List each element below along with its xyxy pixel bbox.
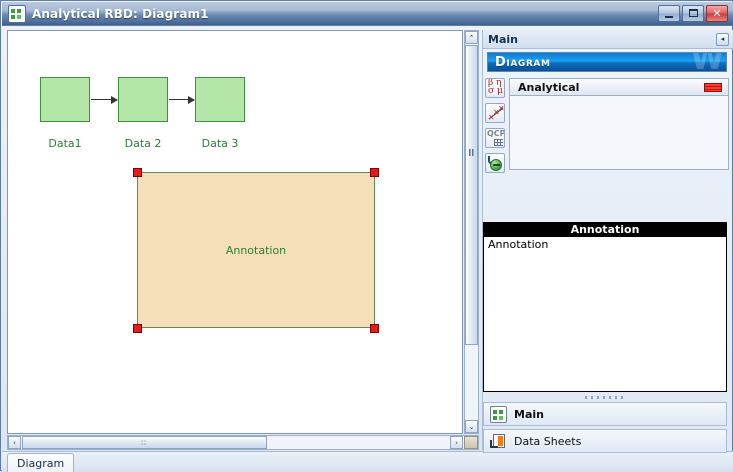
- scroll-down-button[interactable]: ⌄: [465, 420, 478, 433]
- annotation-shape[interactable]: Annotation: [137, 172, 375, 328]
- analytical-title: Analytical: [518, 81, 579, 94]
- diagram-canvas[interactable]: Data1 Data 2 Data 3 Annotation: [7, 30, 463, 434]
- annotation-list[interactable]: Annotation: [483, 237, 727, 392]
- close-icon: ✕: [707, 6, 727, 21]
- window-controls: ✕: [658, 5, 728, 22]
- qcp-icon[interactable]: QCP: [485, 128, 505, 148]
- scroll-right-button[interactable]: ›: [450, 436, 463, 449]
- analytical-panel-header: Analytical: [510, 79, 728, 96]
- chevron-up-icon: ⌃: [469, 34, 475, 42]
- window-title: Analytical RBD: Diagram1: [32, 7, 209, 21]
- watermark-letter: W: [691, 52, 724, 72]
- list-item[interactable]: Annotation: [484, 237, 726, 252]
- diagram-banner-title: Diagram: [495, 55, 551, 70]
- nav-button-main[interactable]: Main: [483, 402, 727, 426]
- analysis-run-icon[interactable]: [485, 153, 505, 173]
- tool-icon-column: β η σ μ ✕✕✕ QCP: [485, 78, 507, 178]
- title-bar: Analytical RBD: Diagram1 ✕: [2, 2, 733, 26]
- annotation-label: Annotation: [226, 244, 286, 257]
- rbd-block-3[interactable]: [195, 77, 245, 122]
- scroll-left-button[interactable]: ‹: [8, 436, 21, 449]
- resize-handle-top-right[interactable]: [370, 168, 379, 177]
- nav-button-data-sheets[interactable]: Data Sheets: [483, 429, 727, 453]
- tab-diagram-label: Diagram: [17, 457, 64, 470]
- data-sheets-icon: [490, 433, 507, 450]
- tab-diagram[interactable]: Diagram: [7, 453, 74, 472]
- chevron-left-icon: ◂: [721, 35, 725, 43]
- analytical-panel: Analytical: [509, 78, 729, 170]
- chevron-left-icon: ‹: [13, 439, 16, 447]
- close-button[interactable]: ✕: [706, 5, 728, 22]
- collapse-panel-button[interactable]: ◂: [716, 33, 729, 46]
- canvas-horizontal-scrollbar[interactable]: ‹ ›: [7, 435, 479, 450]
- resize-handle-bottom-left[interactable]: [133, 324, 142, 333]
- right-panel-header: Main ◂: [483, 30, 733, 49]
- line-style-swatch[interactable]: [704, 83, 722, 92]
- scroll-up-button[interactable]: ⌃: [465, 31, 478, 44]
- canvas-vertical-scrollbar[interactable]: ⌃ ⌄: [464, 30, 479, 434]
- thumb-grip: [141, 440, 147, 447]
- annotation-section-header: Annotation: [483, 222, 727, 237]
- distribution-parameters-icon[interactable]: β η σ μ: [485, 78, 505, 98]
- chevron-right-icon: ›: [455, 439, 458, 447]
- rbd-block-2[interactable]: [118, 77, 168, 122]
- scrollbar-corner: [464, 436, 478, 449]
- right-panel: Main ◂ W Diagram β η σ μ ✕✕✕ QCP: [482, 30, 732, 450]
- rbd-block-3-label: Data 3: [185, 137, 255, 150]
- panel-resize-grip[interactable]: [483, 394, 727, 401]
- connector-2-3[interactable]: [169, 99, 194, 100]
- nav-button-data-sheets-label: Data Sheets: [514, 435, 581, 448]
- maximize-button[interactable]: [682, 5, 704, 22]
- nav-button-main-label: Main: [514, 408, 544, 421]
- resize-handle-top-left[interactable]: [133, 168, 142, 177]
- vertical-scroll-thumb[interactable]: [465, 45, 478, 345]
- resize-handle-bottom-right[interactable]: [370, 324, 379, 333]
- connector-1-2[interactable]: [91, 99, 117, 100]
- plot-points-icon[interactable]: ✕✕✕: [485, 103, 505, 123]
- minimize-button[interactable]: [658, 5, 680, 22]
- chevron-down-icon: ⌄: [469, 423, 475, 431]
- horizontal-scroll-thumb[interactable]: [22, 436, 267, 449]
- diagram-icon: [8, 5, 26, 23]
- rbd-block-2-label: Data 2: [108, 137, 178, 150]
- rbd-block-1-label: Data1: [30, 137, 100, 150]
- diagram-icon: [490, 406, 507, 423]
- application-window: Analytical RBD: Diagram1 ✕ Data1 Data 2 …: [0, 0, 733, 471]
- annotation-section-title: Annotation: [571, 223, 640, 236]
- rbd-block-1[interactable]: [40, 77, 90, 122]
- bottom-tab-strip: Diagram: [2, 451, 733, 471]
- panel-splitter[interactable]: [467, 146, 477, 158]
- right-panel-title: Main: [488, 33, 518, 46]
- diagram-banner: W Diagram: [487, 52, 727, 72]
